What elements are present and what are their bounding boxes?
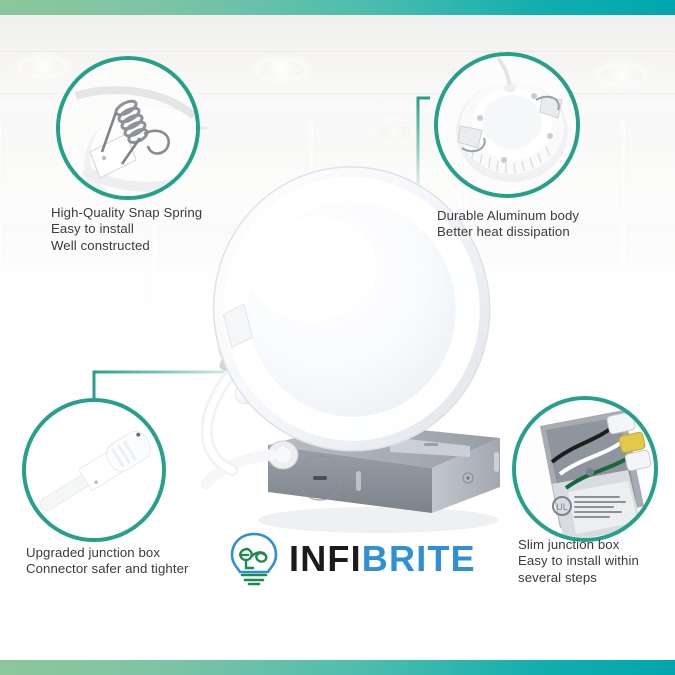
callout-circle-aluminum-body: [434, 52, 580, 198]
caption-slim-junction-box: Slim junction box Easy to install within…: [518, 537, 668, 586]
svg-text:UL: UL: [556, 502, 568, 512]
brand-logo: INFIBRITE: [228, 531, 476, 587]
snap-spring-closeup: [60, 60, 196, 196]
caption-snap-spring: High-Quality Snap Spring Easy to install…: [51, 205, 251, 254]
quick-connector-closeup: [26, 402, 162, 538]
callout-circle-connector: [22, 398, 166, 542]
caption-connector: Upgraded junction box Connector safer an…: [26, 545, 246, 578]
bottom-accent-bar: [0, 660, 675, 675]
round-led-panel-light: [197, 151, 506, 467]
caption-aluminum-body: Durable Aluminum body Better heat dissip…: [437, 208, 652, 241]
callout-circle-slim-junction-box: UL: [512, 396, 658, 542]
top-accent-bar: [0, 0, 675, 15]
logo-text-infi: INFI: [289, 538, 362, 579]
infographic-root: High-Quality Snap Spring Easy to install…: [0, 0, 675, 675]
open-junction-box-wiring-closeup: UL: [516, 400, 654, 538]
logo-wordmark: INFIBRITE: [289, 541, 476, 577]
infibrite-bulb-icon: [228, 531, 280, 587]
callout-circle-snap-spring: [56, 56, 200, 200]
logo-text-brite: BRITE: [362, 538, 476, 579]
aluminum-body-back-closeup: [438, 56, 576, 194]
